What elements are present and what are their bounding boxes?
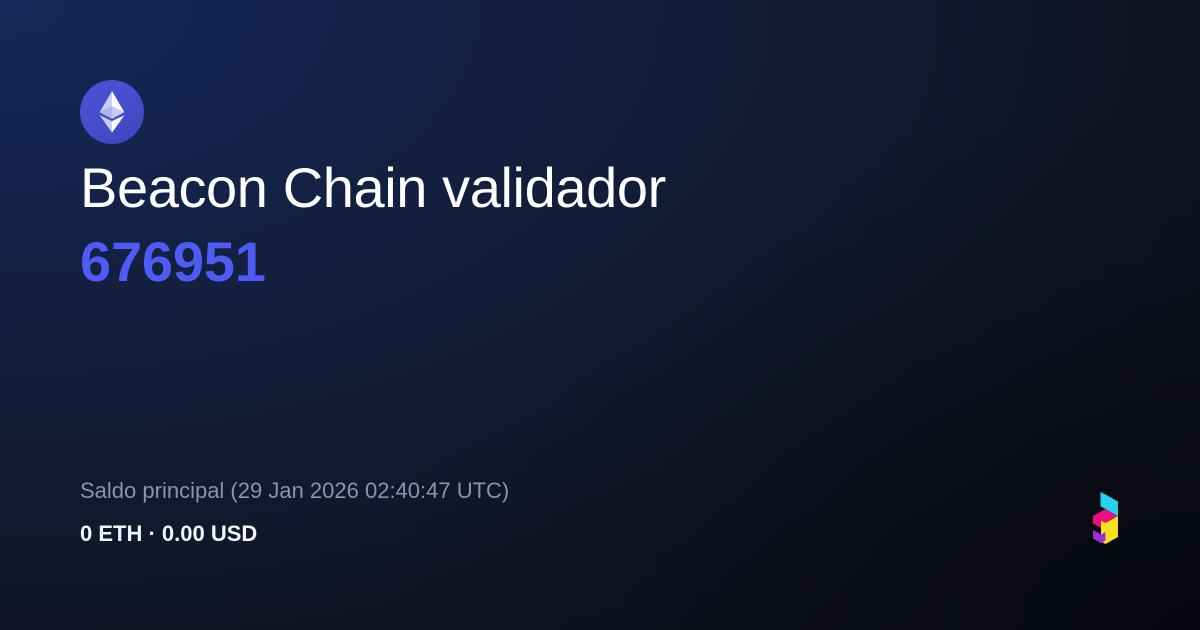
headline-block: Beacon Chain validador 676951 bbox=[80, 152, 1120, 298]
validator-og-card: Beacon Chain validador 676951 Saldo prin… bbox=[0, 0, 1200, 630]
ethereum-badge bbox=[80, 80, 144, 144]
ethereum-icon bbox=[99, 91, 125, 133]
balance-block: Saldo principal (29 Jan 2026 02:40:47 UT… bbox=[80, 476, 509, 548]
balance-label: Saldo principal (29 Jan 2026 02:40:47 UT… bbox=[80, 476, 509, 506]
beaconchain-logo-icon bbox=[1088, 492, 1128, 548]
card-content: Beacon Chain validador 676951 Saldo prin… bbox=[0, 0, 1200, 630]
page-title: Beacon Chain validador bbox=[80, 152, 1120, 224]
balance-value: 0 ETH · 0.00 USD bbox=[80, 520, 509, 548]
validator-index: 676951 bbox=[80, 226, 1120, 298]
beaconchain-logo bbox=[1088, 492, 1128, 548]
